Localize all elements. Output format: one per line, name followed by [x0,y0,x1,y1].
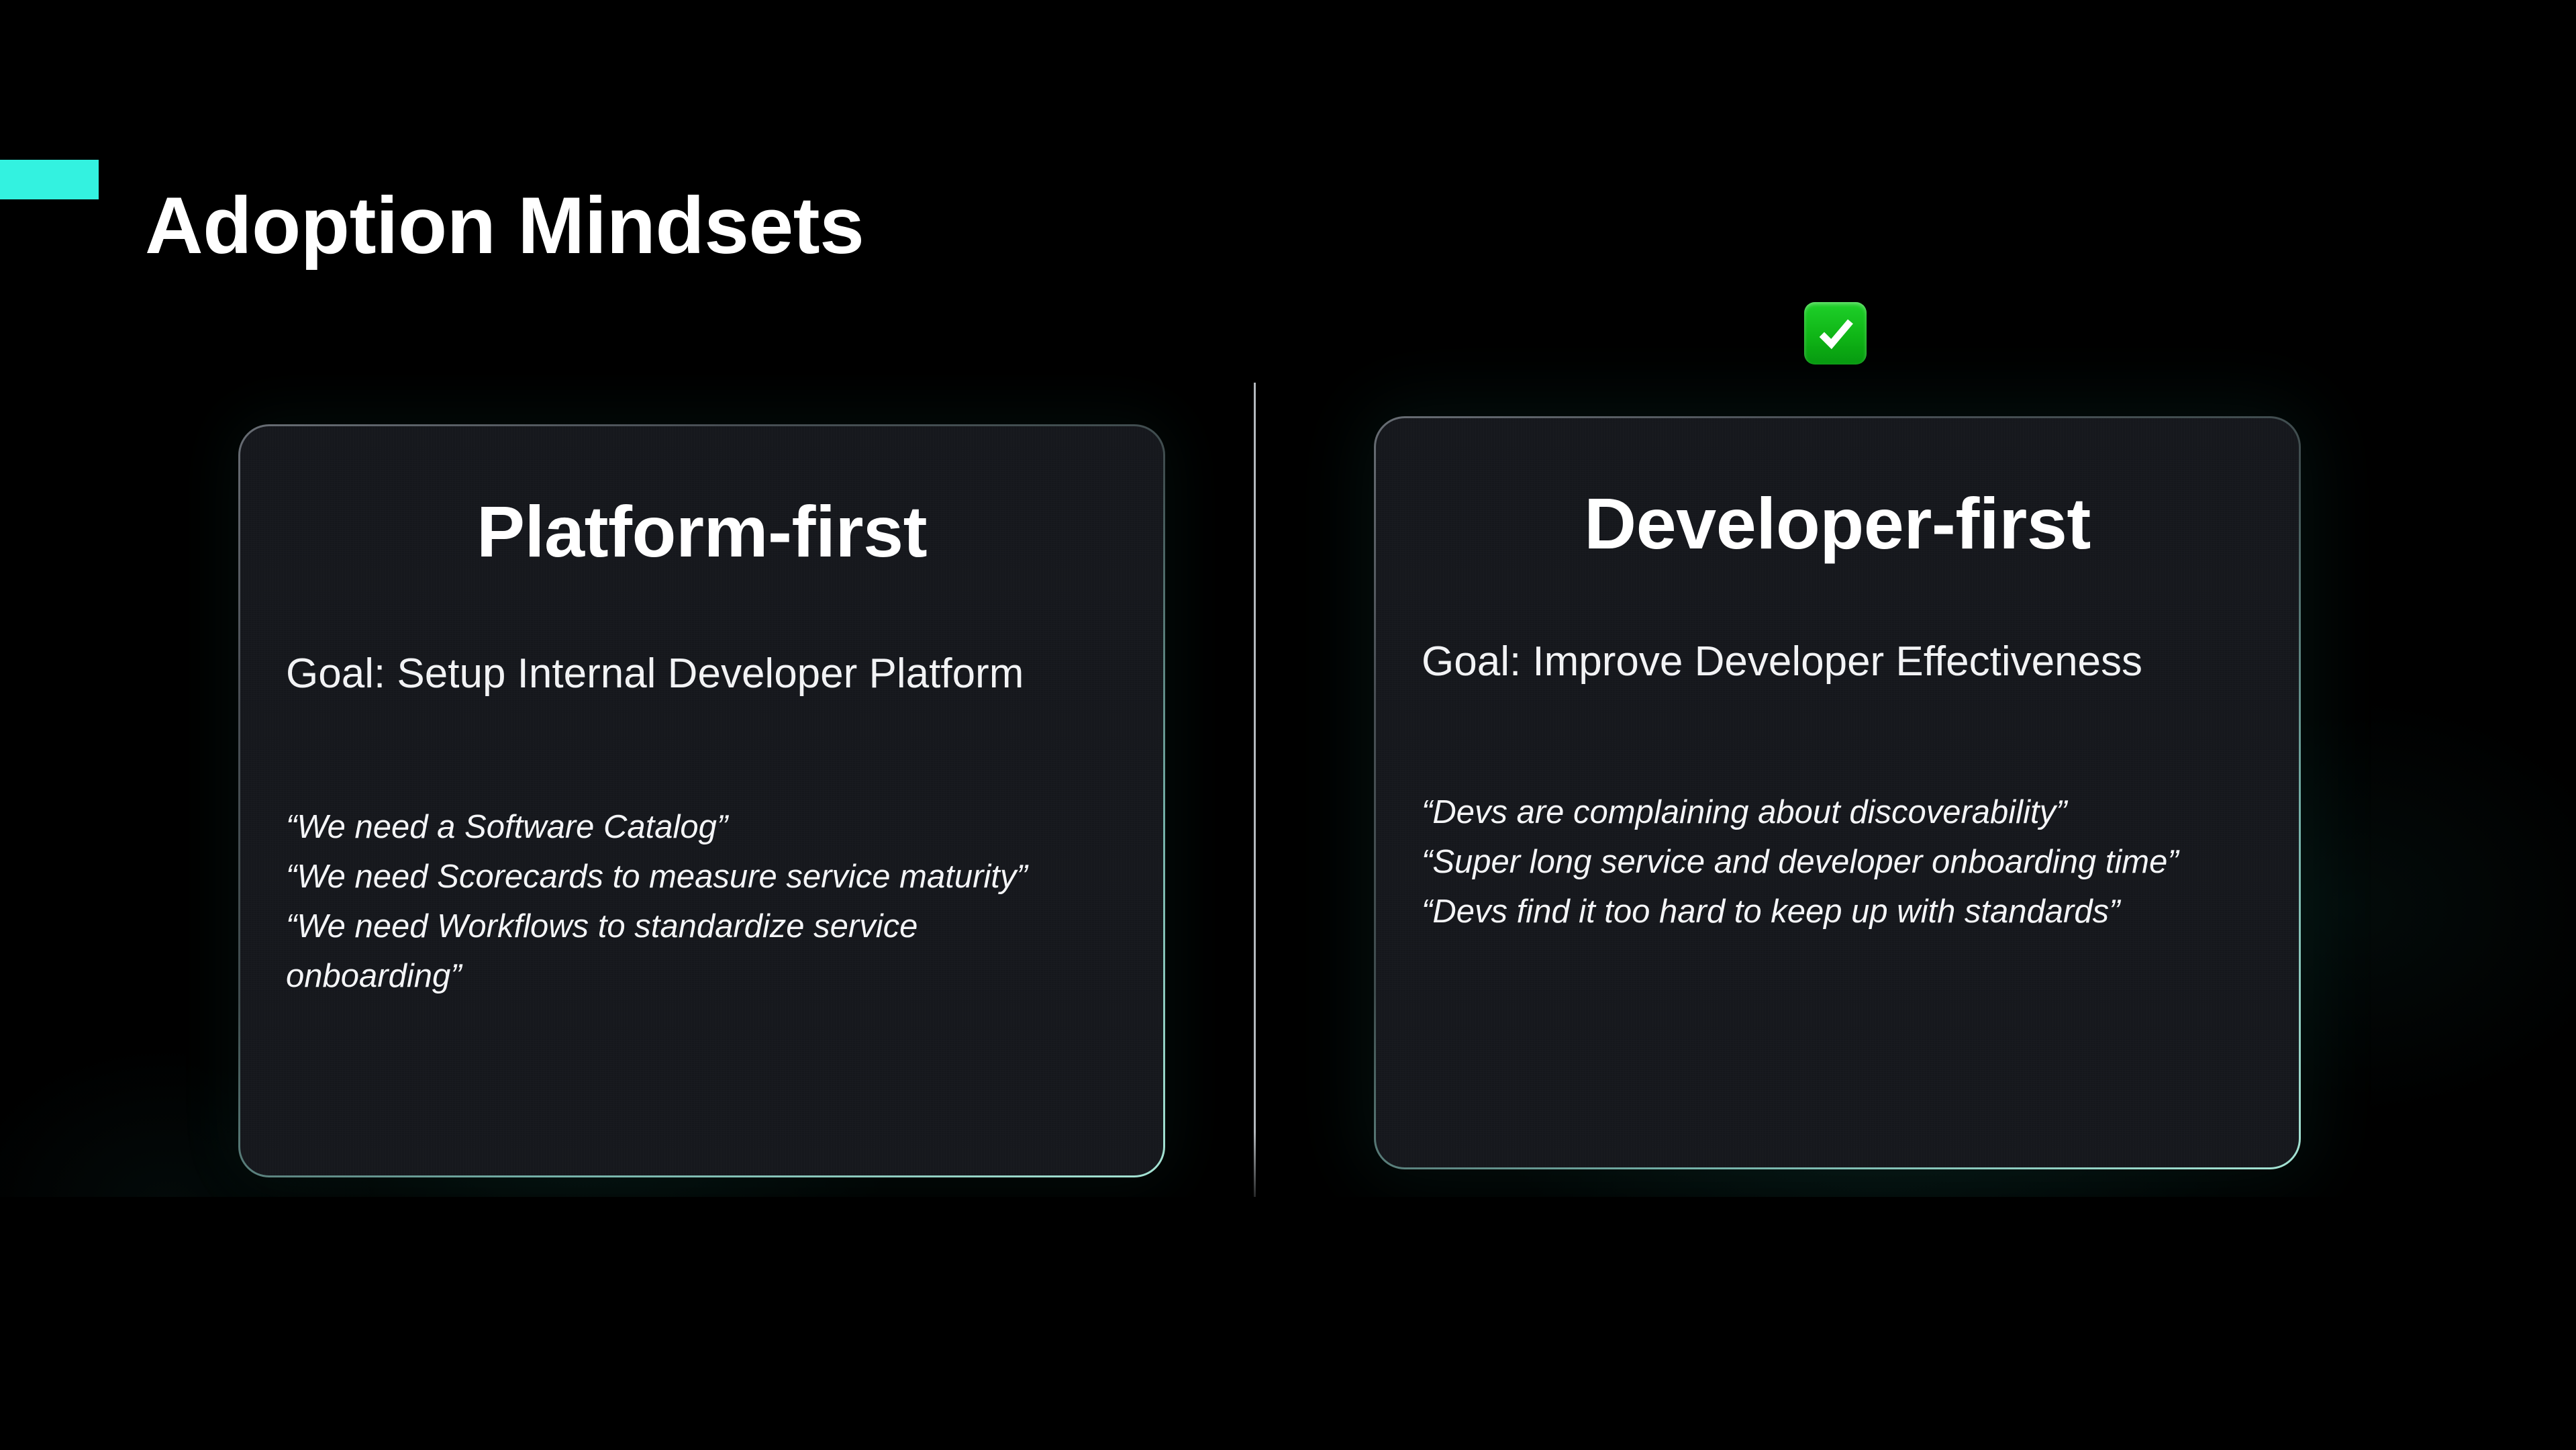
card-quote: “We need Workflows to standardize servic… [286,902,1096,1001]
card-goal-text: Goal: Setup Internal Developer Platform [286,638,1062,709]
card-title: Developer-first [1376,485,2299,561]
mindset-card-developer-first[interactable]: Developer-first Goal: Improve Developer … [1374,416,2301,1169]
card-quote: “Devs find it too hard to keep up with s… [1422,887,2272,936]
card-quote: “Devs are complaining about discoverabil… [1422,787,2272,837]
card-quote-list: “We need a Software Catalog” “We need Sc… [286,802,1096,1001]
card-quote: “Super long service and developer onboar… [1422,837,2272,887]
card-quote-list: “Devs are complaining about discoverabil… [1422,787,2272,936]
slide-canvas: Adoption Mindsets Platform-first Goal: S… [0,0,2576,1197]
card-surface: Platform-first Goal: Setup Internal Deve… [240,426,1163,1175]
card-title: Platform-first [240,493,1163,569]
vertical-divider [1254,383,1256,1197]
letterbox-bar [0,1197,2576,1450]
check-mark-icon [1804,302,1867,365]
card-quote: “We need a Software Catalog” [286,802,1096,852]
mindset-card-platform-first[interactable]: Platform-first Goal: Setup Internal Deve… [238,424,1165,1177]
card-goal-text: Goal: Improve Developer Effectiveness [1422,626,2205,697]
card-surface: Developer-first Goal: Improve Developer … [1376,418,2299,1167]
page-title: Adoption Mindsets [145,185,864,266]
card-quote: “We need Scorecards to measure service m… [286,852,1096,902]
title-accent-bar [0,160,99,199]
